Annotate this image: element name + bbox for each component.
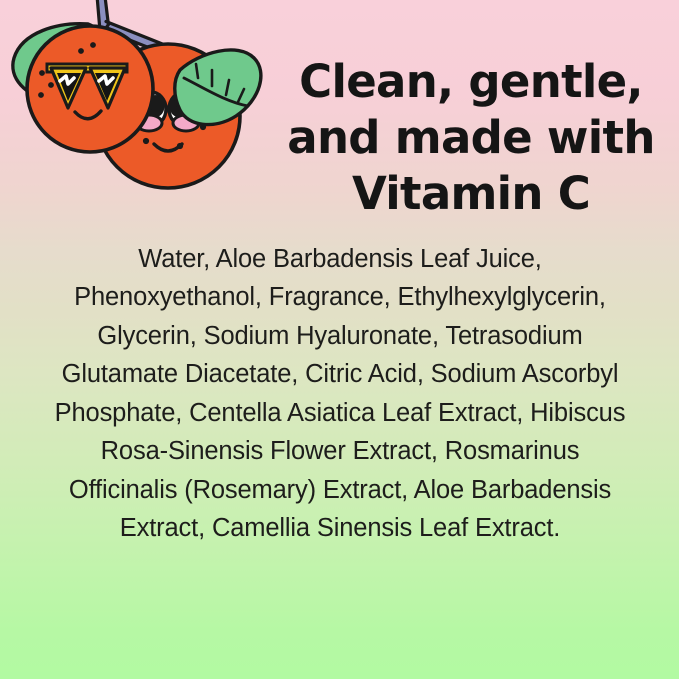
orange-with-sunglasses <box>27 26 153 152</box>
ingredients-list: Water, Aloe Barbadensis Leaf Juice, Phen… <box>46 240 634 548</box>
product-ingredients-card: Clean, gentle, and made with Vitamin C W… <box>0 0 679 679</box>
page-title: Clean, gentle, and made with Vitamin C <box>272 54 670 221</box>
oranges-illustration <box>0 0 268 206</box>
